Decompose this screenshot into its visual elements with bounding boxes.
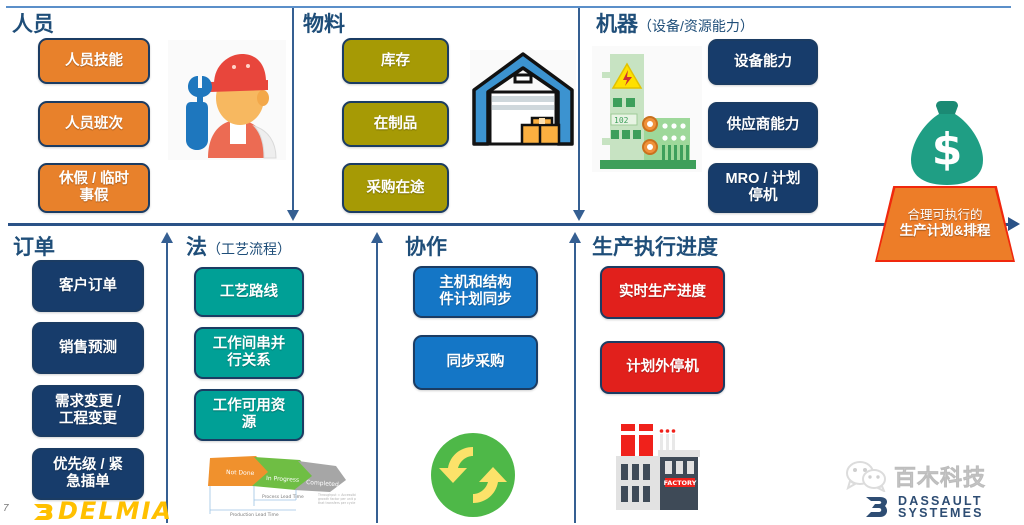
- category-title-method-main: 法: [186, 236, 207, 259]
- fishbone-diagram: 人员 人员技能 人员班次 休假 / 临时 事假 物料 库存 在制品 采购: [0, 0, 1024, 525]
- svg-text:102: 102: [614, 116, 629, 125]
- category-title-collaboration: 协作: [405, 231, 447, 261]
- node-order-1-label: 销售预测: [59, 340, 117, 357]
- node-material-0-label: 库存: [381, 53, 410, 70]
- node-order-3-label: 优先级 / 紧 急插单: [53, 457, 123, 490]
- delmia-logo-text: DELMIA: [58, 497, 173, 525]
- node-execution-1[interactable]: 计划外停机: [600, 341, 725, 394]
- category-title-method: 法（工艺流程）: [186, 231, 291, 261]
- result-line-2: 生产计划&排程: [900, 223, 991, 240]
- delmia-logo: DELMIA: [30, 497, 173, 525]
- svg-text:Process Lead Time: Process Lead Time: [262, 494, 304, 500]
- separator-people-material: [292, 8, 294, 214]
- separator-order-method: [166, 243, 168, 523]
- arrow-down-machine: [573, 210, 585, 221]
- category-title-material-main: 物料: [303, 13, 345, 36]
- 3ds-logo-icon: [863, 494, 893, 520]
- arrow-up-collaboration: [569, 232, 581, 243]
- wechat-icon: [845, 460, 887, 492]
- category-title-machine-paren: （设备/资源能力）: [638, 18, 754, 34]
- node-people-1[interactable]: 人员班次: [38, 101, 150, 147]
- node-execution-0[interactable]: 实时生产进度: [600, 266, 725, 319]
- category-title-execution: 生产执行进度: [592, 231, 718, 261]
- category-title-material: 物料: [303, 8, 345, 38]
- worker-with-wrench-icon: [168, 40, 286, 160]
- node-method-1-label: 工作间串并 行关系: [213, 336, 286, 369]
- category-title-execution-main: 生产执行进度: [592, 236, 718, 259]
- svg-text:$: $: [932, 124, 963, 175]
- result-line-1: 合理可执行的: [907, 208, 982, 224]
- node-material-2-label: 采购在途: [367, 180, 425, 197]
- node-order-0[interactable]: 客户订单: [32, 260, 144, 312]
- node-execution-0-label: 实时生产进度: [619, 284, 706, 301]
- separator-method-collaboration: [376, 243, 378, 523]
- node-people-2[interactable]: 休假 / 临时 事假: [38, 163, 150, 213]
- node-machine-2-label: MRO / 计划 停机: [726, 171, 801, 204]
- node-machine-1[interactable]: 供应商能力: [708, 102, 818, 148]
- node-machine-1-label: 供应商能力: [727, 117, 800, 134]
- category-title-collaboration-main: 协作: [405, 236, 447, 259]
- svg-text:FACTORY: FACTORY: [664, 479, 697, 487]
- svg-text:Production Lead Time: Production Lead Time: [230, 512, 279, 518]
- factory-building-icon: FACTORY: [608, 418, 708, 518]
- node-collaboration-1-label: 同步采购: [447, 354, 505, 371]
- node-order-2[interactable]: 需求变更 / 工程变更: [32, 385, 144, 437]
- node-method-0-label: 工艺路线: [220, 284, 278, 301]
- node-material-1[interactable]: 在制品: [342, 101, 449, 147]
- category-title-order-main: 订单: [13, 236, 55, 259]
- node-method-0[interactable]: 工艺路线: [194, 267, 304, 317]
- arrow-up-method: [371, 232, 383, 243]
- category-title-people-main: 人员: [12, 13, 54, 36]
- result-node[interactable]: 合理可执行的 生产计划&排程: [875, 186, 1015, 262]
- page-number: 7: [3, 503, 9, 514]
- watermark-text: 百木科技: [894, 460, 986, 492]
- watermark-brand-line2: SYSTEMES: [898, 507, 984, 520]
- 3ds-mark-icon: [30, 501, 56, 523]
- node-method-2[interactable]: 工作可用资 源: [194, 389, 304, 441]
- factory-machine-icon: 102: [592, 46, 702, 172]
- top-border-line: [6, 6, 1011, 8]
- node-machine-0[interactable]: 设备能力: [708, 39, 818, 85]
- category-title-people: 人员: [12, 8, 54, 38]
- node-people-2-label: 休假 / 临时 事假: [59, 171, 129, 204]
- node-people-0[interactable]: 人员技能: [38, 38, 150, 84]
- node-people-0-label: 人员技能: [65, 53, 123, 70]
- node-machine-2[interactable]: MRO / 计划 停机: [708, 163, 818, 213]
- money-bag-icon: $: [905, 98, 989, 188]
- svg-text:that transfers per cycle: that transfers per cycle: [318, 501, 355, 505]
- process-chevron-chart: Not Done In Progress Completed Process L…: [196, 452, 356, 522]
- separator-collaboration-execution: [574, 243, 576, 523]
- node-method-2-label: 工作可用资 源: [213, 398, 286, 431]
- node-order-1[interactable]: 销售预测: [32, 322, 144, 374]
- node-order-0-label: 客户订单: [59, 278, 117, 295]
- node-execution-1-label: 计划外停机: [626, 359, 699, 376]
- node-method-1[interactable]: 工作间串并 行关系: [194, 327, 304, 379]
- category-title-order: 订单: [13, 231, 55, 261]
- category-title-method-paren: （工艺流程）: [207, 241, 291, 257]
- arrow-up-order: [161, 232, 173, 243]
- watermark: 百木科技 DASSAULT SYSTEMES: [845, 460, 1020, 522]
- sync-refresh-icon: [428, 430, 518, 520]
- node-material-2[interactable]: 采购在途: [342, 163, 449, 213]
- node-collaboration-1[interactable]: 同步采购: [413, 335, 538, 390]
- node-collaboration-0-label: 主机和结构 件计划同步: [439, 275, 512, 308]
- node-people-1-label: 人员班次: [65, 116, 123, 133]
- category-title-machine-main: 机器: [596, 13, 638, 36]
- result-text: 合理可执行的 生产计划&排程: [875, 186, 1015, 262]
- node-machine-0-label: 设备能力: [734, 54, 792, 71]
- arrow-down-material: [287, 210, 299, 221]
- warehouse-boxes-icon: [470, 50, 576, 150]
- svg-text:Not Done: Not Done: [226, 469, 255, 477]
- separator-material-machine: [578, 8, 580, 214]
- node-collaboration-0[interactable]: 主机和结构 件计划同步: [413, 266, 538, 318]
- node-order-3[interactable]: 优先级 / 紧 急插单: [32, 448, 144, 500]
- node-order-2-label: 需求变更 / 工程变更: [55, 394, 121, 427]
- node-material-0[interactable]: 库存: [342, 38, 449, 84]
- node-material-1-label: 在制品: [374, 116, 418, 133]
- category-title-machine: 机器（设备/资源能力）: [596, 8, 754, 38]
- spine-line: [8, 223, 1011, 226]
